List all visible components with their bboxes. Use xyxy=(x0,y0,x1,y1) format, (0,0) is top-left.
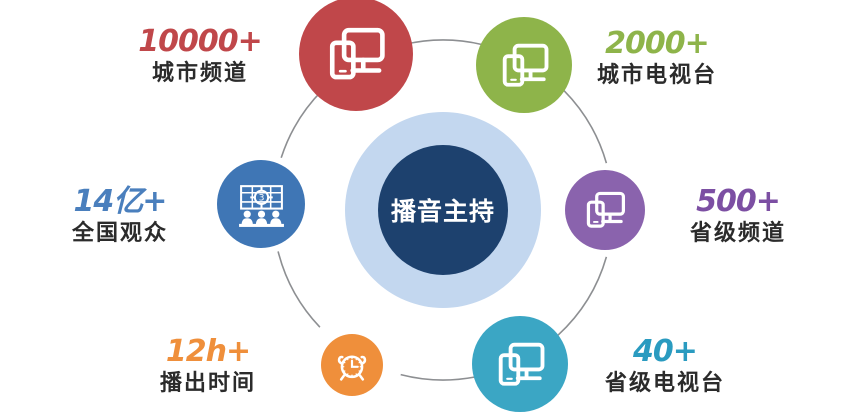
label-name-national-audience: 全国观众 xyxy=(30,222,210,246)
monitor-phone-icon xyxy=(493,337,548,392)
monitor-phone-icon xyxy=(497,38,552,93)
monitor-phone-icon xyxy=(323,21,389,87)
monitor-phone-icon xyxy=(582,187,628,233)
label-value-national-audience: 14亿+ xyxy=(30,186,210,218)
audience-screen-icon: 3 xyxy=(236,179,287,230)
alarm-clock-icon xyxy=(334,347,370,383)
label-name-city-tv-stations: 城市电视台 xyxy=(562,64,752,88)
ring-arc-segment xyxy=(558,257,606,335)
infographic-canvas: 播音主持 3 10000+城市频道2000+城市电视台500+省级频道40+省级… xyxy=(0,0,850,416)
label-name-city-channels: 城市频道 xyxy=(100,62,300,86)
node-circle-city-tv-stations[interactable] xyxy=(476,17,572,113)
label-name-provincial-channels: 省级频道 xyxy=(648,222,828,246)
label-block-provincial-tv-stations: 40+省级电视台 xyxy=(570,336,760,396)
node-circle-national-audience[interactable]: 3 xyxy=(217,160,305,248)
svg-text:3: 3 xyxy=(258,192,264,203)
label-value-provincial-channels: 500+ xyxy=(648,186,828,218)
label-value-broadcast-hours: 12h+ xyxy=(118,336,298,368)
ring-arc-segment xyxy=(278,251,320,327)
label-block-city-tv-stations: 2000+城市电视台 xyxy=(562,28,752,88)
label-value-city-channels: 10000+ xyxy=(100,26,300,58)
label-name-broadcast-hours: 播出时间 xyxy=(118,372,298,396)
ring-arc-segment xyxy=(281,90,322,158)
ring-arc-segment xyxy=(564,90,607,163)
center-label: 播音主持 xyxy=(391,192,495,228)
node-circle-provincial-channels[interactable] xyxy=(565,170,645,250)
label-name-provincial-tv-stations: 省级电视台 xyxy=(570,372,760,396)
ring-arc-segment xyxy=(404,40,482,44)
label-block-broadcast-hours: 12h+播出时间 xyxy=(118,336,298,396)
label-block-provincial-channels: 500+省级频道 xyxy=(648,186,828,246)
label-value-city-tv-stations: 2000+ xyxy=(562,28,752,60)
label-block-city-channels: 10000+城市频道 xyxy=(100,26,300,86)
label-value-provincial-tv-stations: 40+ xyxy=(570,336,760,368)
node-circle-broadcast-hours[interactable] xyxy=(321,334,383,396)
label-block-national-audience: 14亿+全国观众 xyxy=(30,186,210,246)
node-circle-provincial-tv-stations[interactable] xyxy=(472,316,568,412)
center-circle[interactable]: 播音主持 xyxy=(378,145,508,275)
ring-arc-segment xyxy=(401,375,475,380)
node-circle-city-channels[interactable] xyxy=(299,0,413,111)
